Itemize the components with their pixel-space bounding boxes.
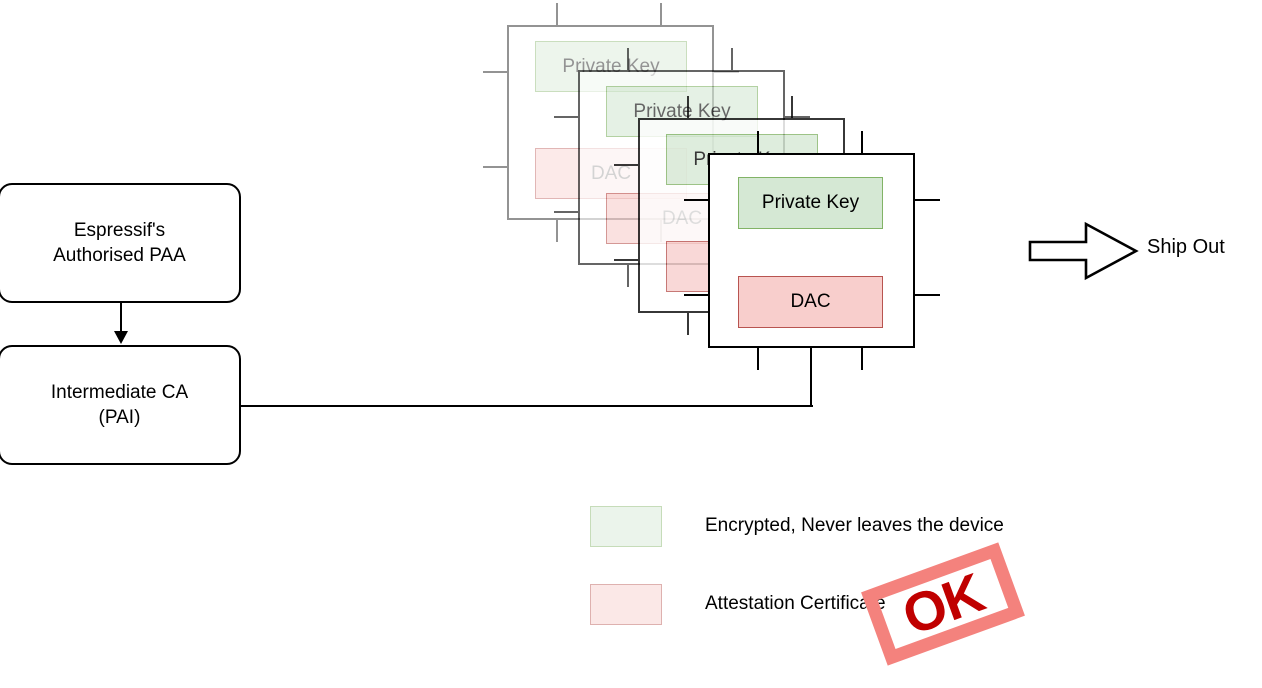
- chip-pin-bottom-left-icon: [556, 218, 558, 242]
- chip-pin-top-left-icon: [687, 96, 689, 120]
- paa-label: Espressif's Authorised PAA: [53, 218, 186, 268]
- ship-out-label: Ship Out: [1147, 236, 1225, 259]
- chip-pin-left-upper-icon: [614, 164, 640, 166]
- chip-pin-left-lower-icon: [554, 211, 580, 213]
- chip-pin-top-left-icon: [757, 131, 759, 155]
- ship-out-arrow-icon: [1028, 220, 1140, 282]
- chip-private-key-label: Private Key: [762, 192, 859, 214]
- chip-pin-top-right-icon: [660, 3, 662, 27]
- chip-dac-label: DAC: [790, 291, 830, 313]
- chip-pin-top-left-icon: [627, 48, 629, 72]
- chip-pin-top-right-icon: [791, 96, 793, 120]
- pai-label: Intermediate CA (PAI): [51, 380, 188, 430]
- chip-pin-left-lower-icon: [614, 259, 640, 261]
- chip-pin-top-right-icon: [731, 48, 733, 72]
- legend-swatch-attestation: [590, 584, 662, 625]
- paa-to-pai-arrowhead-icon: [114, 331, 128, 344]
- ok-stamp: OK: [861, 542, 1025, 665]
- pai-to-dac-horizontal: [241, 405, 813, 407]
- chip-pin-left-upper-icon: [684, 199, 710, 201]
- chip-pin-right-lower-icon: [914, 294, 940, 296]
- chip-dac-box: DAC: [738, 276, 883, 328]
- legend-label-encrypted: Encrypted, Never leaves the device: [705, 515, 1004, 537]
- chip-pin-right-upper-icon: [914, 199, 940, 201]
- pai-box[interactable]: Intermediate CA (PAI): [0, 345, 241, 465]
- chip-pin-left-lower-icon: [684, 294, 710, 296]
- legend-label-attestation: Attestation Certificate: [705, 593, 886, 615]
- legend-swatch-encrypted: [590, 506, 662, 547]
- paa-box[interactable]: Espressif's Authorised PAA: [0, 183, 241, 303]
- chip-pin-left-lower-icon: [483, 166, 509, 168]
- chip-pin-bottom-left-icon: [627, 263, 629, 287]
- chip-pin-bottom-left-icon: [757, 346, 759, 370]
- chip-private-key-box: Private Key: [738, 177, 883, 229]
- diagram-canvas: Espressif's Authorised PAA Intermediate …: [0, 0, 1262, 688]
- paa-to-pai-connector: [120, 303, 122, 333]
- chip-pin-left-upper-icon: [554, 116, 580, 118]
- chip-pin-top-right-icon: [861, 131, 863, 155]
- chip-pin-bottom-left-icon: [687, 311, 689, 335]
- chip-pin-bottom-right-icon: [861, 346, 863, 370]
- chip-pin-left-upper-icon: [483, 71, 509, 73]
- ok-stamp-text: OK: [861, 542, 1025, 665]
- chip-pin-top-left-icon: [556, 3, 558, 27]
- pai-to-dac-vertical: [810, 348, 812, 407]
